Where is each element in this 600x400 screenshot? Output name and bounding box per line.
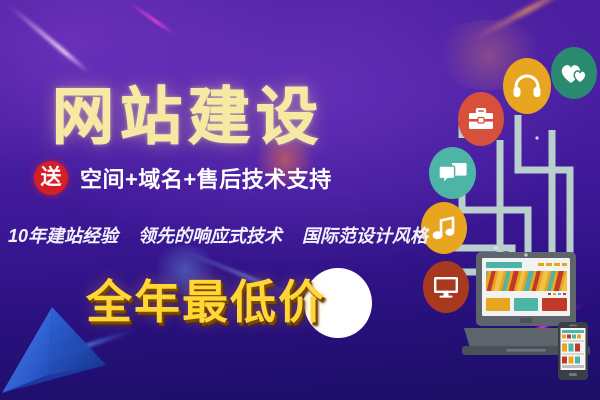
chat-bubble-icon	[429, 147, 476, 199]
monitor-glyph	[433, 276, 459, 298]
smartphone-illustration	[558, 322, 588, 380]
briefcase-glyph	[468, 108, 494, 130]
hearts-icon	[551, 47, 597, 99]
feature-item: 领先的响应式技术	[138, 222, 282, 248]
gift-badge: 送	[34, 161, 68, 195]
promo-banner: 网站建设 送 空间+域名+售后技术支持 10年建站经验 领先的响应式技术 国际范…	[0, 0, 600, 400]
feature-item: 国际范设计风格	[302, 222, 428, 248]
headphones-glyph	[513, 74, 541, 98]
briefcase-icon	[458, 92, 504, 146]
gift-text: 空间+域名+售后技术支持	[80, 162, 332, 194]
page-title: 网站建设	[52, 66, 324, 156]
price-headline: 全年最低价	[86, 266, 326, 332]
chat-glyph	[439, 162, 467, 184]
gift-line: 送 空间+域名+售后技术支持	[34, 161, 332, 195]
light-streak	[5, 2, 92, 76]
feature-list: 10年建站经验 领先的响应式技术 国际范设计风格	[8, 222, 428, 248]
headphones-icon	[503, 58, 551, 114]
hearts-glyph	[559, 61, 589, 85]
feature-item: 10年建站经验	[8, 222, 118, 248]
music-glyph	[432, 216, 456, 240]
light-streak	[126, 0, 177, 37]
